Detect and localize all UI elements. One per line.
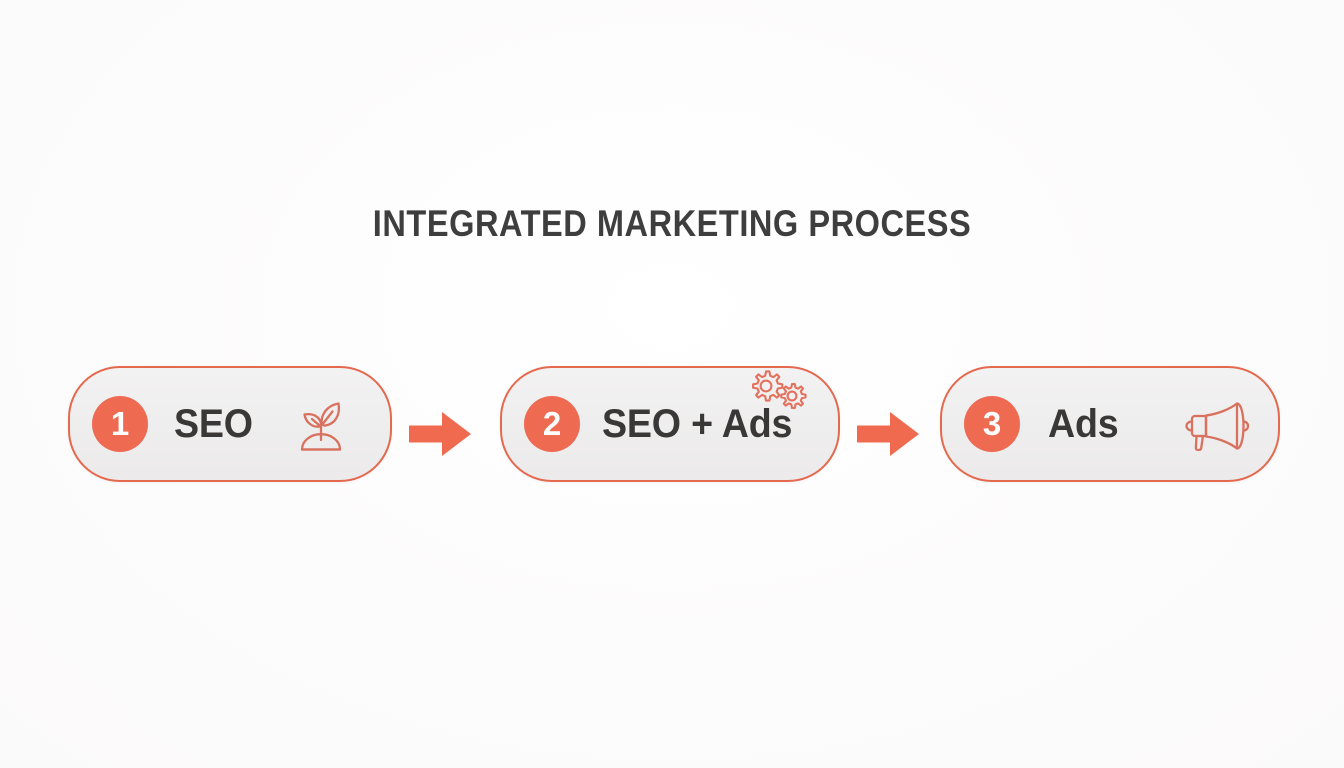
step-label-1: SEO [174, 402, 253, 447]
gears-icon [748, 366, 810, 423]
step-label-3: Ads [1048, 402, 1118, 447]
step-number-badge-1: 1 [92, 396, 148, 452]
sprout-icon [294, 396, 348, 459]
step-number-badge-2: 2 [524, 396, 580, 452]
infographic-canvas: INTEGRATED MARKETING PROCESS 1 SEO [0, 0, 1344, 768]
step-card-2[interactable]: 2 SEO + Ads [500, 366, 840, 482]
step-number-badge-3: 3 [964, 396, 1020, 452]
process-flow: 1 SEO [0, 366, 1344, 484]
arrow-right-icon-2 [857, 412, 919, 461]
page-title: INTEGRATED MARKETING PROCESS [373, 203, 971, 245]
title-block: INTEGRATED MARKETING PROCESS [0, 178, 1344, 270]
step-card-1[interactable]: 1 SEO [68, 366, 392, 482]
megaphone-icon [1184, 401, 1250, 456]
step-card-3[interactable]: 3 Ads [940, 366, 1280, 482]
arrow-right-icon-1 [409, 412, 471, 461]
